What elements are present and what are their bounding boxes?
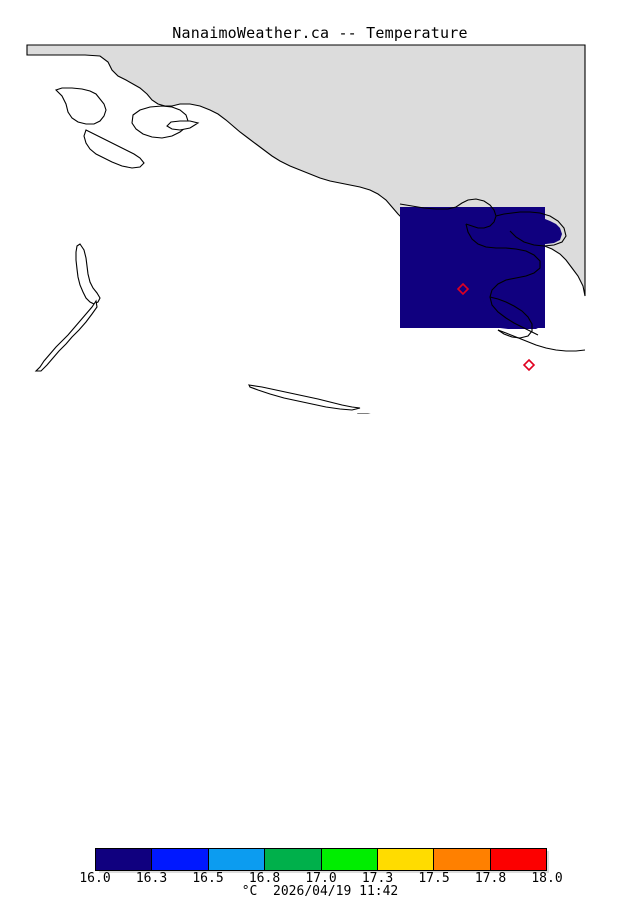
- colorbar-segment-6: [434, 849, 490, 870]
- colorbar-segment-2: [209, 849, 265, 870]
- colorbar-segment-3: [265, 849, 321, 870]
- colorbar-segment-0: [96, 849, 152, 870]
- map-panel: [0, 44, 640, 414]
- page-title: NanaimoWeather.ca -- Temperature: [0, 24, 640, 42]
- colorbar: [95, 848, 547, 871]
- colorbar-segment-1: [152, 849, 208, 870]
- colorbar-panel: 16.016.316.516.817.017.317.517.818.0 °C …: [0, 420, 640, 480]
- colorbar-segment-4: [322, 849, 378, 870]
- temperature-data-overlay: [400, 207, 562, 329]
- colorbar-segment-7: [491, 849, 546, 870]
- colorbar-caption: °C 2026/04/19 11:42: [0, 884, 640, 899]
- colorbar-segment-5: [378, 849, 434, 870]
- map-canvas: [0, 44, 640, 414]
